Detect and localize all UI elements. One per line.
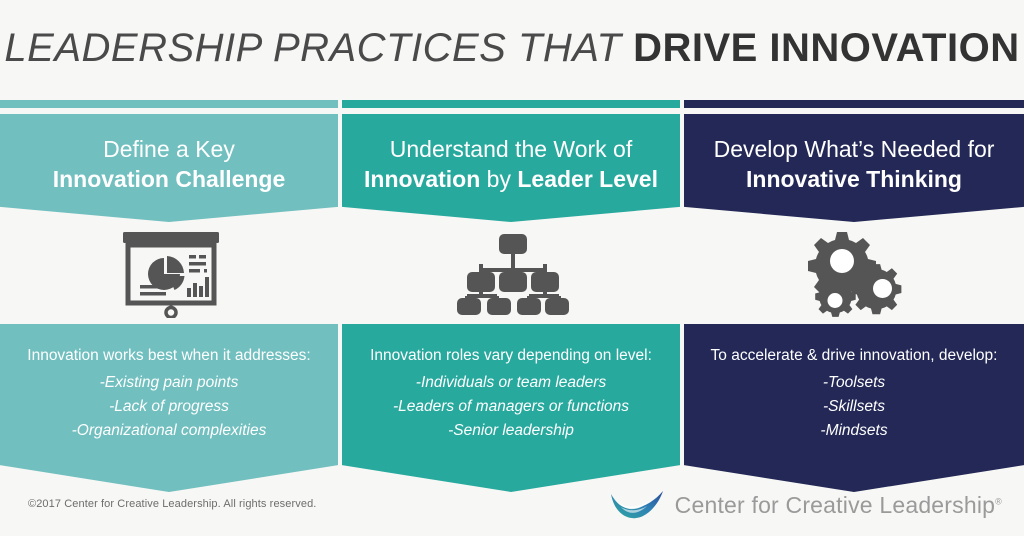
- presentation-chart-icon: [119, 230, 223, 318]
- page-title: LEADERSHIP PRACTICES THAT DRIVE INNOVATI…: [4, 26, 1019, 71]
- heading-bold-lead: Innovation Challenge: [53, 166, 286, 192]
- body-item: -Mindsets: [820, 419, 887, 443]
- column-icon-area: [342, 224, 684, 324]
- registered-mark: ®: [995, 496, 1002, 506]
- body-item: -Organizational complexities: [72, 419, 267, 443]
- column-accent-bar: [342, 100, 680, 108]
- body-item: -Leaders of managers or functions: [393, 395, 629, 419]
- column-header: Develop What’s Needed for Innovative Thi…: [684, 114, 1024, 222]
- ccl-swoosh-icon: [609, 486, 665, 524]
- body-item: -Existing pain points: [100, 371, 239, 395]
- column-body: To accelerate & drive innovation, develo…: [684, 324, 1024, 492]
- copyright-text: ©2017 Center for Creative Leadership. Al…: [28, 498, 316, 510]
- body-lead-text: Innovation works best when it addresses:: [27, 344, 310, 368]
- column-heading-line2: Innovation by Leader Level: [364, 164, 658, 194]
- column-icon-area: [0, 224, 342, 324]
- gears-icon: [799, 230, 909, 318]
- infographic-canvas: LEADERSHIP PRACTICES THAT DRIVE INNOVATI…: [0, 0, 1024, 536]
- title-bar: LEADERSHIP PRACTICES THAT DRIVE INNOVATI…: [0, 0, 1024, 96]
- column-understand-work-of-innovation: Understand the Work of Innovation by Lea…: [342, 96, 684, 496]
- column-heading-line1: Define a Key: [103, 134, 235, 164]
- body-item: -Lack of progress: [109, 395, 229, 419]
- ccl-logo: Center for Creative Leadership®: [609, 486, 1002, 524]
- heading-regular-mid: by: [480, 166, 517, 192]
- body-lead-text: To accelerate & drive innovation, develo…: [711, 344, 998, 368]
- column-icon-area: [684, 224, 1024, 324]
- body-item: -Individuals or team leaders: [416, 371, 606, 395]
- body-item: -Senior leadership: [448, 419, 574, 443]
- column-define-key-innovation-challenge: Define a Key Innovation Challenge: [0, 96, 342, 496]
- column-header: Define a Key Innovation Challenge: [0, 114, 338, 222]
- body-item: -Toolsets: [823, 371, 885, 395]
- body-lead-text: Innovation roles vary depending on level…: [370, 344, 652, 368]
- column-accent-bar: [684, 100, 1024, 108]
- column-develop-innovative-thinking: Develop What’s Needed for Innovative Thi…: [684, 96, 1024, 496]
- heading-bold-lead: Innovative Thinking: [746, 166, 962, 192]
- title-light-text: LEADERSHIP PRACTICES THAT: [4, 26, 633, 70]
- column-heading-line2: Innovative Thinking: [746, 164, 962, 194]
- ccl-logo-text: Center for Creative Leadership®: [675, 492, 1002, 519]
- org-chart-icon: [457, 232, 569, 316]
- heading-bold-tail: Leader Level: [517, 166, 658, 192]
- column-heading-line1: Understand the Work of: [390, 134, 632, 164]
- column-heading-line1: Develop What’s Needed for: [714, 134, 995, 164]
- column-header: Understand the Work of Innovation by Lea…: [342, 114, 680, 222]
- column-heading-line2: Innovation Challenge: [53, 164, 286, 194]
- body-item: -Skillsets: [823, 395, 885, 419]
- column-body: Innovation works best when it addresses:…: [0, 324, 338, 492]
- title-bold-text: DRIVE INNOVATION: [633, 26, 1020, 70]
- heading-bold-lead: Innovation: [364, 166, 480, 192]
- logo-label: Center for Creative Leadership: [675, 492, 996, 518]
- column-accent-bar: [0, 100, 338, 108]
- column-body: Innovation roles vary depending on level…: [342, 324, 680, 492]
